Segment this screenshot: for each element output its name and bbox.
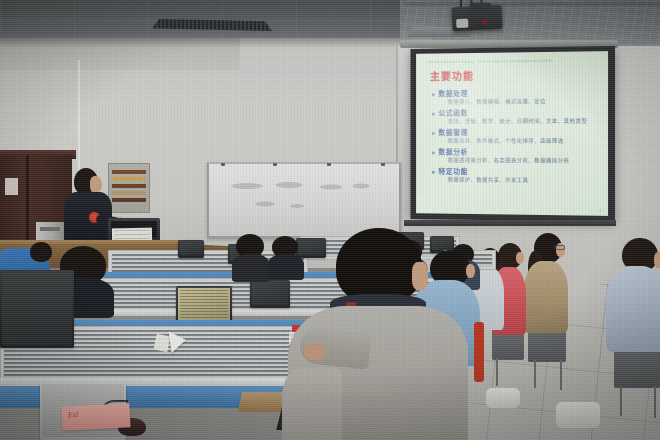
slide-section-heading: 特定功能	[432, 167, 599, 178]
whiteboard-markings	[227, 180, 377, 214]
head	[336, 228, 422, 304]
chair-leg	[654, 386, 656, 418]
slide-page-number: 6	[599, 209, 601, 213]
slide-section-body: 数据录入、数据编辑、格式设置、定位	[432, 98, 599, 108]
face-edge	[516, 252, 524, 264]
projector-lens	[456, 18, 468, 28]
slide-section-body: 数据保护、数据共享、开发工具	[432, 177, 599, 187]
glasses-icon	[554, 245, 565, 250]
projector-icon	[451, 5, 502, 32]
chair-red-back	[474, 322, 484, 382]
slide-section-heading: 公式函数	[432, 108, 599, 118]
chair-leg	[534, 360, 536, 388]
slide-section-heading: 数据处理	[432, 88, 599, 99]
face-edge	[654, 252, 660, 268]
slide-section: 特定功能 数据保护、数据共享、开发工具	[432, 167, 599, 187]
torso	[268, 254, 304, 280]
slide-section-body: 数据合并、条件格式、个性化排序、高级筛选	[432, 138, 599, 147]
chair-leg	[560, 360, 562, 390]
wall-poster	[108, 163, 150, 213]
torso	[232, 254, 270, 282]
lcd-monitor	[296, 238, 326, 258]
pink-name-card-text: Esl	[68, 410, 79, 420]
chair-leg	[496, 358, 498, 386]
lcd-monitor	[250, 280, 290, 308]
projector-indicator-light	[482, 19, 487, 24]
wall-paper-note	[5, 178, 18, 195]
hand	[304, 344, 326, 360]
folded-paper-tent	[169, 329, 188, 353]
screen-bottom-bar	[404, 220, 616, 226]
slide-section-body: 数据透视表分析、各类图表分析、数据模拟分析	[432, 157, 599, 167]
chair-leg	[620, 386, 622, 416]
slide-section: 数据处理 数据录入、数据编辑、格式设置、定位	[432, 88, 599, 108]
lcd-monitor	[178, 240, 204, 258]
arm	[282, 368, 342, 440]
slide-section: 数据分析 数据透视表分析、各类图表分析、数据模拟分析	[432, 148, 599, 167]
whiteboard-clip	[381, 163, 385, 166]
face-edge	[412, 262, 428, 290]
slide-section: 数据管理 数据合并、条件格式、个性化排序、高级筛选	[432, 128, 599, 147]
head	[30, 242, 52, 262]
slide-header-line: OFFICE Application Training · Data Manag…	[426, 58, 599, 64]
face-edge	[466, 264, 475, 278]
slide-title: 主要功能	[430, 67, 599, 83]
pink-name-card: Esl	[61, 403, 130, 431]
slide-section-heading: 数据管理	[432, 128, 599, 138]
slide-section-body: 查找、逻辑、数学、统计、日期时间、文本、其他类型	[432, 118, 599, 127]
classroom-photo-scene: OFFICE Application Training · Data Manag…	[0, 0, 660, 440]
lcd-monitor-foreground	[0, 270, 74, 348]
whiteboard-clip	[327, 163, 331, 166]
projection-screen: OFFICE Application Training · Data Manag…	[411, 46, 615, 222]
slide-section: 公式函数 查找、逻辑、数学、统计、日期时间、文本、其他类型	[432, 108, 599, 127]
torso	[524, 261, 568, 333]
slide-section-heading: 数据分析	[432, 148, 599, 158]
whiteboard-clip	[273, 163, 277, 166]
slide-content: OFFICE Application Training · Data Manag…	[416, 51, 608, 216]
empty-chair	[556, 402, 600, 428]
empty-chair	[486, 388, 520, 408]
ceiling-panel-edge	[404, 2, 660, 6]
whiteboard-clip	[221, 163, 225, 166]
torso	[606, 266, 660, 352]
projected-slide: OFFICE Application Training · Data Manag…	[416, 51, 608, 216]
whiteboard	[207, 162, 401, 238]
instructor-face	[90, 176, 102, 193]
